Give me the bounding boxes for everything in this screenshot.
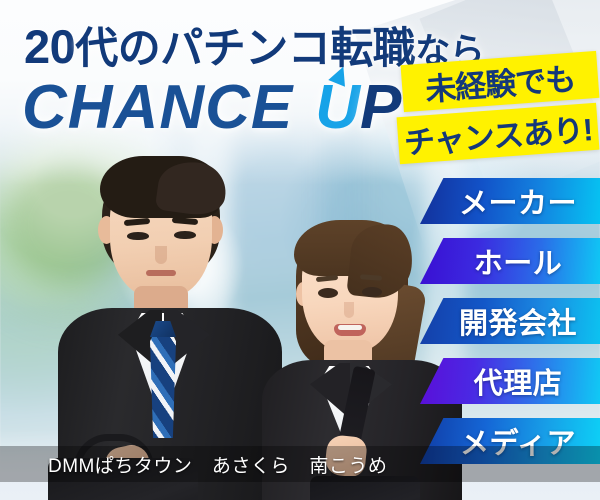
logo-word-chance: CHANCE (22, 72, 293, 143)
headline-age-number: 20 (24, 20, 75, 73)
badge-no-experience-label: 未経験でも (424, 54, 577, 110)
recruitment-banner[interactable]: 20代のパチンコ転職なら CHANCE UP 未経験でも チャンスあり! メーカ… (0, 0, 600, 500)
logo-chance-up: CHANCE UP (22, 72, 401, 143)
woman-nose (344, 302, 354, 318)
man-nose (155, 246, 167, 264)
credit-text: DMMぱちタウン あさくら 南こうめ (48, 451, 387, 478)
man-mouth (146, 270, 176, 276)
man-eye-right (174, 231, 196, 239)
woman-teeth (338, 325, 362, 330)
logo-word-up: UP (315, 72, 401, 143)
category-button-maker-label: メーカー (443, 180, 577, 222)
category-button-agency[interactable]: 代理店 (420, 358, 600, 404)
category-button-list: メーカー ホール 開発会社 代理店 メディア (420, 178, 600, 478)
category-button-agency-label: 代理店 (458, 360, 563, 402)
man-striped-necktie (150, 328, 176, 438)
woman-eye-right (362, 287, 382, 297)
logo-letter-p: P (360, 73, 401, 142)
woman-eye-left (318, 288, 338, 298)
category-button-maker[interactable]: メーカー (420, 178, 600, 224)
credit-bar: DMMぱちタウン あさくら 南こうめ (0, 446, 600, 482)
category-button-development-company[interactable]: 開発会社 (420, 298, 600, 344)
man-eye-left (127, 232, 149, 240)
category-button-hall-label: ホール (458, 240, 563, 282)
headline-main-text: 代のパチンコ転職 (75, 25, 415, 73)
category-button-hall[interactable]: ホール (420, 238, 600, 284)
category-button-development-company-label: 開発会社 (443, 300, 577, 342)
